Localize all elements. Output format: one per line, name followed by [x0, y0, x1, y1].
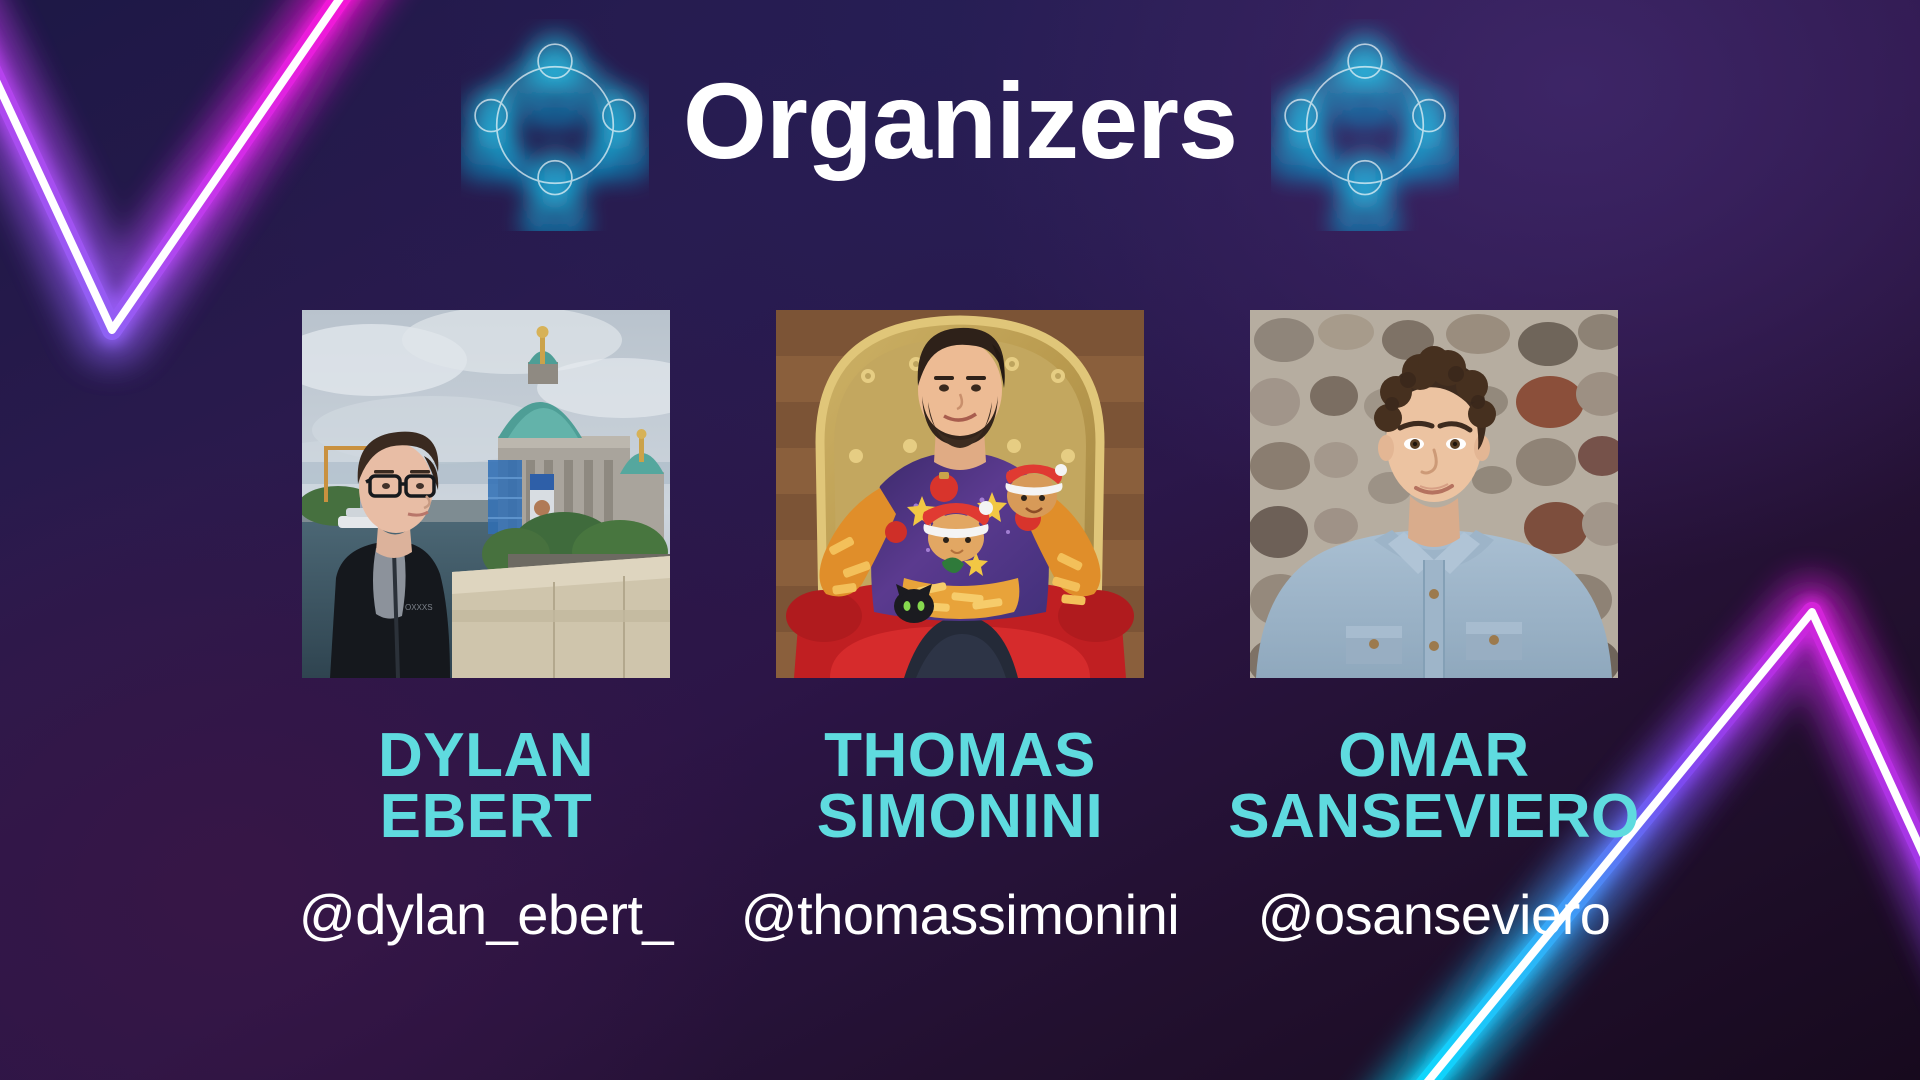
organizer-card: OMAR SANSEVIERO @osanseviero — [1214, 310, 1654, 947]
organizer-card: OXXXS DYLAN EBERT @dylan_ebert_ — [266, 310, 706, 947]
organizer-name: OMAR SANSEVIERO — [1228, 726, 1640, 848]
organizers-list: OXXXS DYLAN EBERT @dylan_ebert_ — [0, 310, 1920, 947]
svg-text:OXXXS: OXXXS — [405, 603, 433, 612]
organizer-photo — [1250, 310, 1618, 678]
people-circle-neon-icon-right — [1271, 19, 1459, 231]
organizer-name: DYLAN EBERT — [378, 726, 594, 848]
organizers-slide: Organizers — [0, 0, 1920, 1080]
organizer-handle: @thomassimonini — [741, 882, 1179, 947]
organizer-handle: @dylan_ebert_ — [299, 882, 673, 947]
slide-header: Organizers — [0, 0, 1920, 250]
organizer-photo — [776, 310, 1144, 678]
organizer-card: THOMAS SIMONINI @thomassimonini — [740, 310, 1180, 947]
people-circle-neon-icon-left — [461, 19, 649, 231]
organizer-photo: OXXXS — [302, 310, 670, 678]
organizer-handle: @osanseviero — [1258, 882, 1611, 947]
organizer-name: THOMAS SIMONINI — [817, 726, 1103, 848]
page-title: Organizers — [683, 67, 1237, 183]
